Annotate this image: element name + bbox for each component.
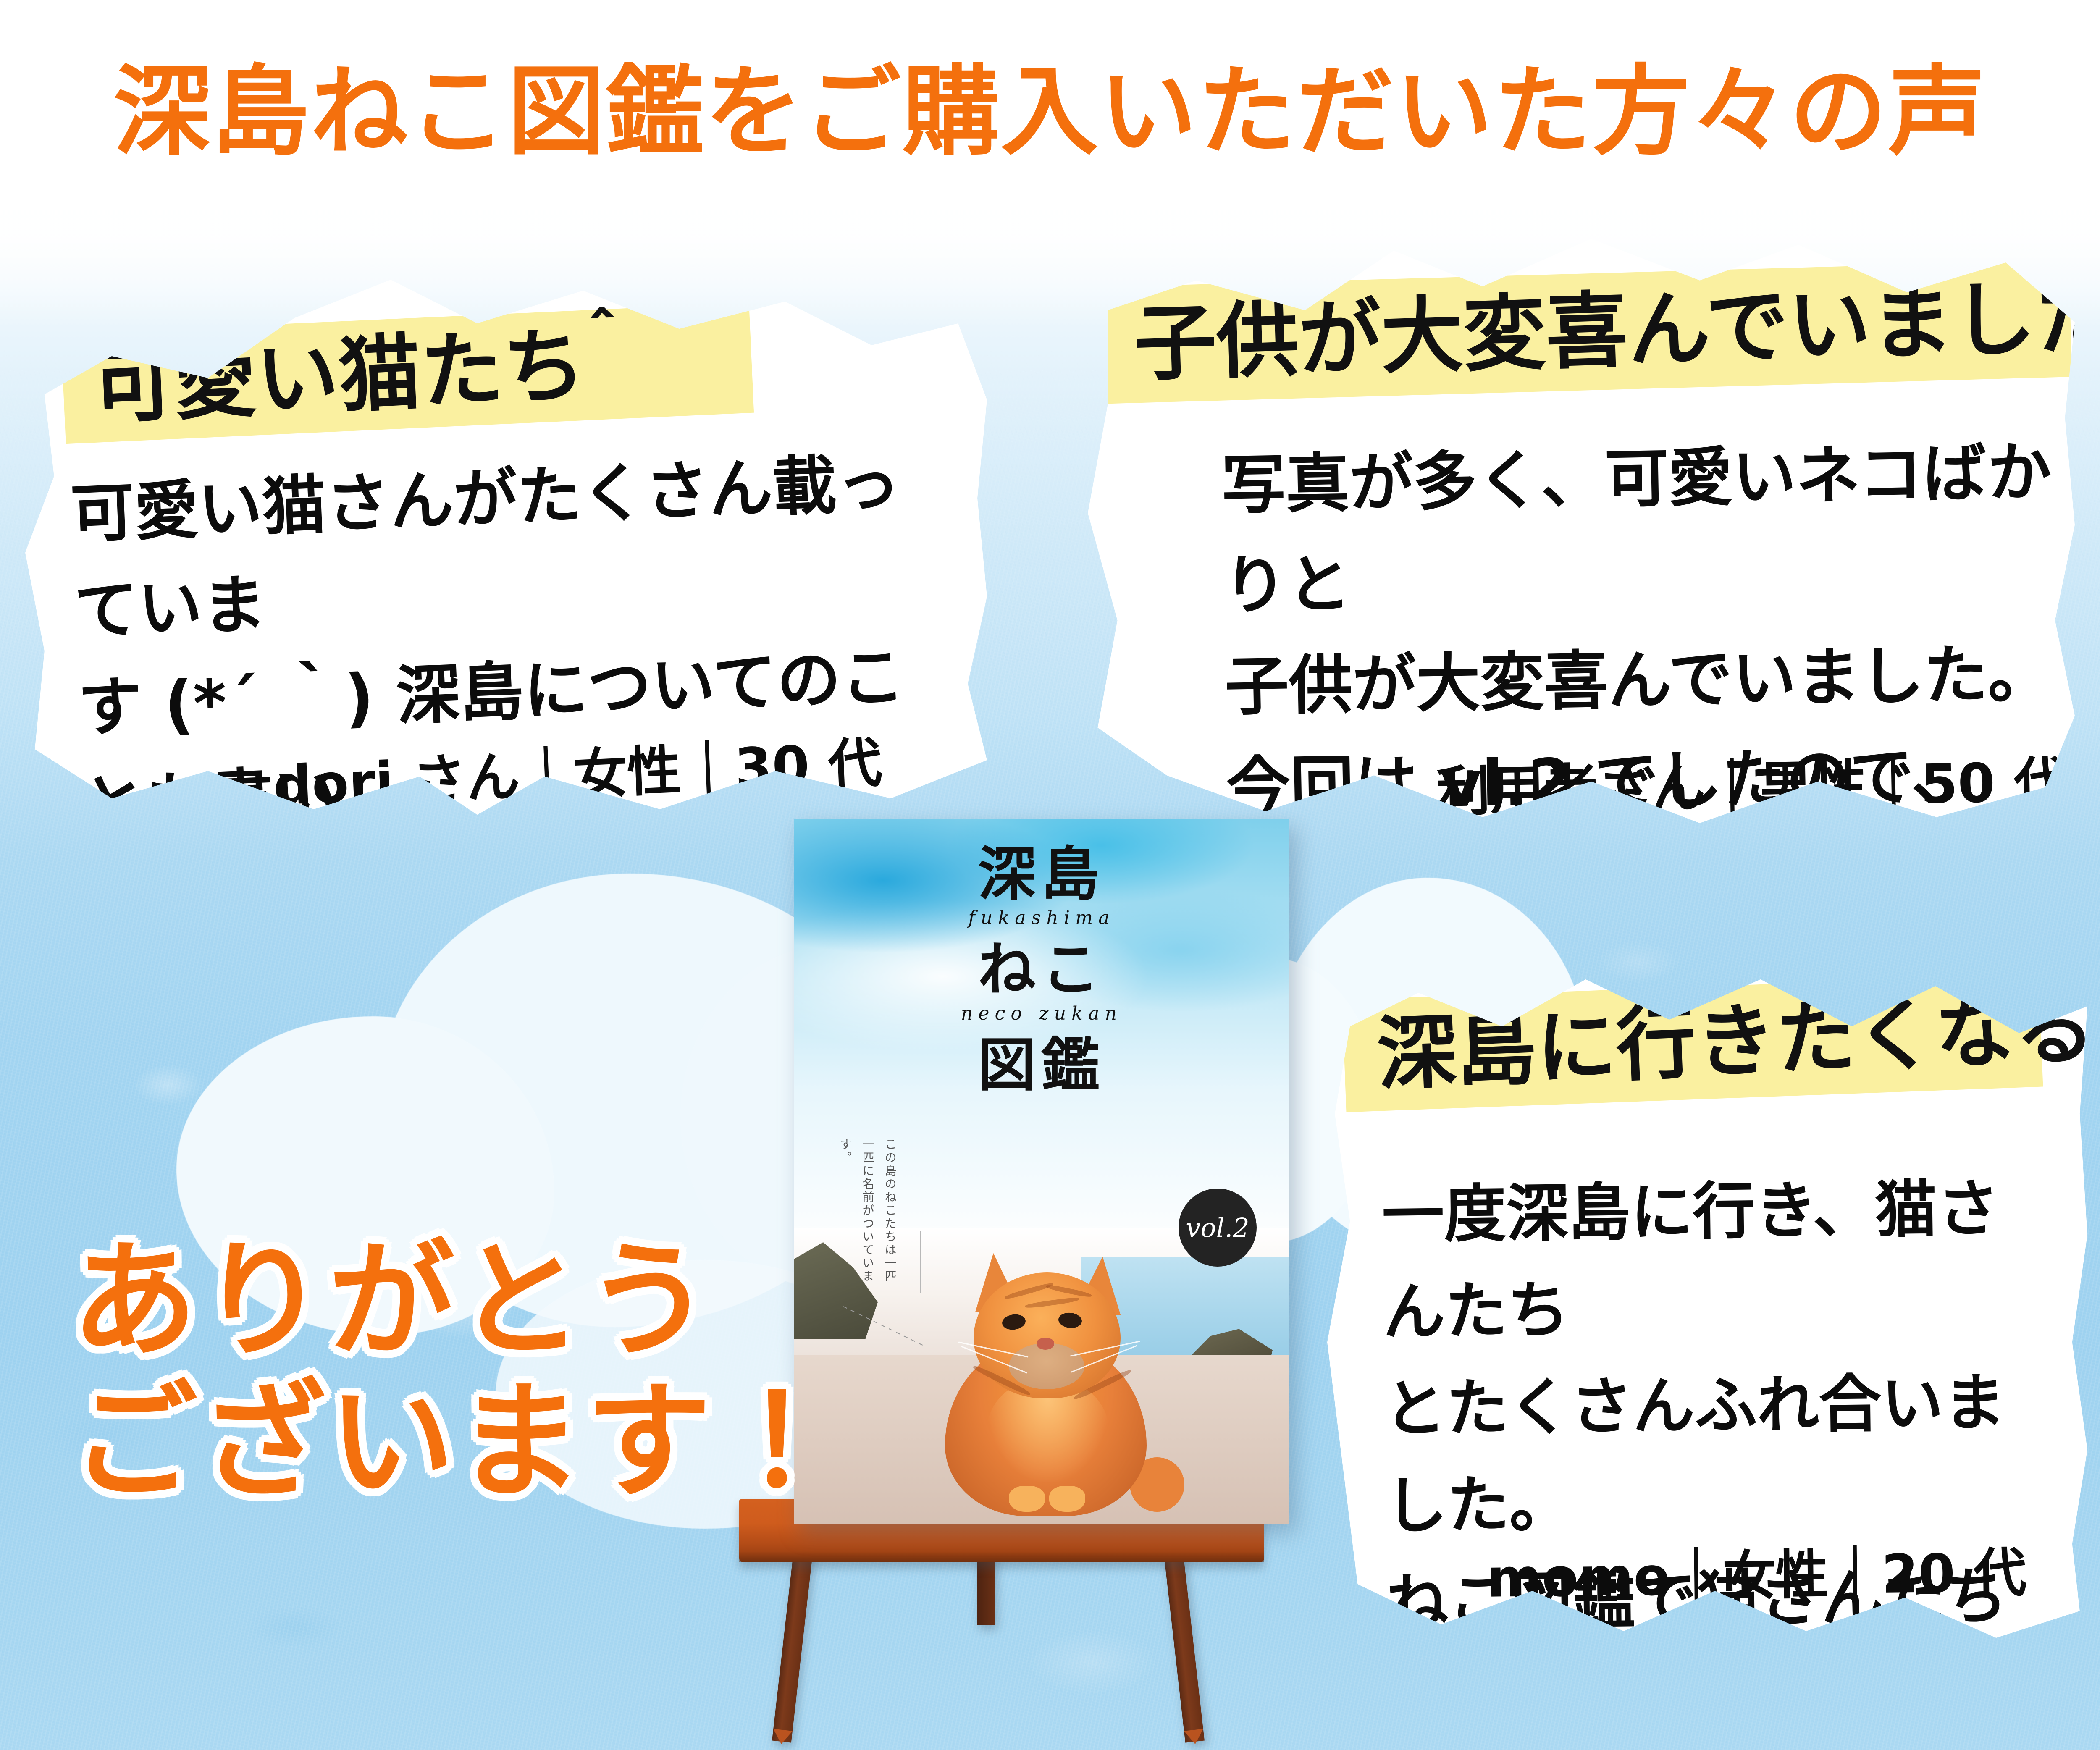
easel-stand	[710, 1495, 1365, 1750]
poster-canvas: 深島ねこ図鑑をご購入いただいた方々の声 深島 fukashima ねこ neco…	[0, 0, 2100, 1750]
testimonial-3-body-line: 一度深島に行き、猫さんたち	[1381, 1160, 2039, 1361]
easel-leg-left	[772, 1548, 813, 1742]
testimonial-1-body-line: 可愛い猫さんがたくさん載っていま	[69, 433, 937, 660]
book-volume-badge: vol.2	[1179, 1189, 1257, 1267]
cat-paw-left	[1009, 1486, 1045, 1512]
testimonial-2-body-line: 写真が多く、可愛いネコばかりと	[1221, 422, 2068, 637]
cat-photo-illustration	[920, 1239, 1172, 1516]
thank-you-message: ありがとう ございます！	[71, 1231, 890, 1513]
testimonial-3-attribution: momo｜女性｜20 代	[1486, 1530, 2027, 1612]
easel-leg-right	[1163, 1548, 1205, 1742]
book-title-kana-neko: ねこ	[794, 939, 1289, 1000]
book-title-kanji-zukan: 図鑑	[794, 1034, 1289, 1096]
thank-you-line-2: ございます！	[71, 1372, 890, 1513]
page-title: 深島ねこ図鑑をご購入いただいた方々の声	[113, 63, 1987, 160]
testimonial-card-3: 深島に行きたくなる 一度深島に行き、猫さんたち とたくさんふれ合いました。 ねこ…	[1327, 966, 2087, 1638]
testimonial-3-body-line: とたくさんふれ合いました。	[1383, 1354, 2041, 1555]
book-title-romaji-neco-zukan: neco zukan	[794, 1003, 1289, 1024]
cat-paw-right	[1049, 1486, 1085, 1512]
cat-nose	[1037, 1338, 1054, 1350]
page-header: 深島ねこ図鑑をご購入いただいた方々の声	[0, 63, 2100, 160]
book-title-kanji-fukashima: 深島	[794, 843, 1289, 905]
easel-leg-tip	[772, 1729, 793, 1745]
thank-you-line-1: ありがとう	[71, 1231, 890, 1372]
book-title-block: 深島 fukashima ねこ neco zukan 図鑑	[794, 843, 1289, 1096]
testimonial-2-body-line: 子供が大変喜んでいました。	[1224, 624, 2070, 738]
easel-leg-tip	[1184, 1729, 1205, 1745]
cat-muzzle	[1009, 1343, 1084, 1389]
testimonial-card-2: 子供が大変喜んでいました 写真が多く、可愛いネコばかりと 子供が大変喜んでいまし…	[1088, 227, 2075, 823]
book-title-romaji-fukashima: fukashima	[794, 907, 1289, 929]
